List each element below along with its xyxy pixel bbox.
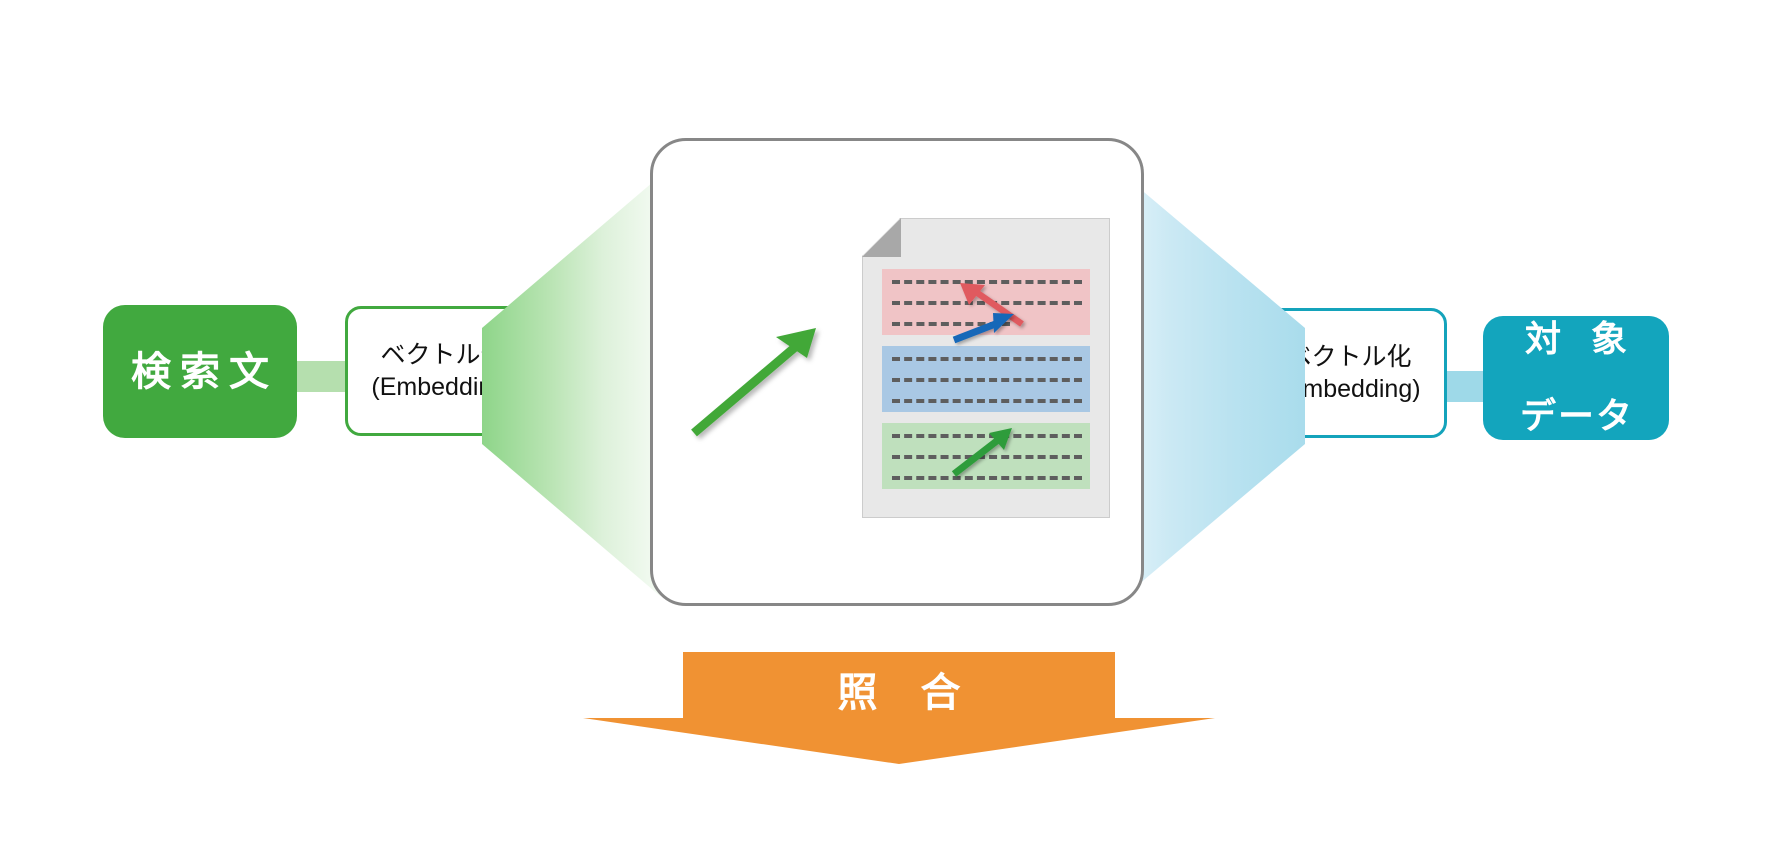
blue-flow-wedge <box>1125 176 1305 596</box>
search-query-chip[interactable]: 検索文 <box>103 305 297 438</box>
diagram-canvas: 検索文 ベクトル化 (Embedding) ベクトル化 (Embedding) … <box>0 0 1783 865</box>
document-band-green <box>882 423 1090 489</box>
green-query-vector-arrow <box>688 320 828 440</box>
target-data-chip[interactable]: 対 象 データ <box>1483 316 1669 440</box>
document-band-blue <box>882 346 1090 412</box>
target-data-chip-label-line1: 対 象 <box>1515 320 1637 359</box>
orange-down-arrow-shape <box>583 652 1215 764</box>
search-query-chip-label: 検索文 <box>122 352 278 392</box>
green-flow-wedge <box>482 176 660 596</box>
target-data-chip-label-line2: データ <box>1515 397 1637 436</box>
green-connector-bar <box>290 361 350 392</box>
dash-line <box>892 476 1082 480</box>
right-embedding-label-ja: ベクトル化 <box>1286 341 1411 373</box>
dash-line <box>892 357 1082 361</box>
target-data-chip-label: 対 象 データ <box>1515 281 1637 475</box>
document-graphic <box>862 218 1110 518</box>
dash-line <box>892 399 1082 403</box>
green-band-vector-arrow <box>950 246 1022 302</box>
dash-line <box>892 455 1082 459</box>
document-fold-corner-icon <box>862 218 902 257</box>
matching-banner-arrow: 照 合 <box>583 652 1215 764</box>
dash-line <box>892 434 1082 438</box>
dash-line <box>892 378 1082 382</box>
blue-band-vector-arrow <box>950 306 1020 348</box>
